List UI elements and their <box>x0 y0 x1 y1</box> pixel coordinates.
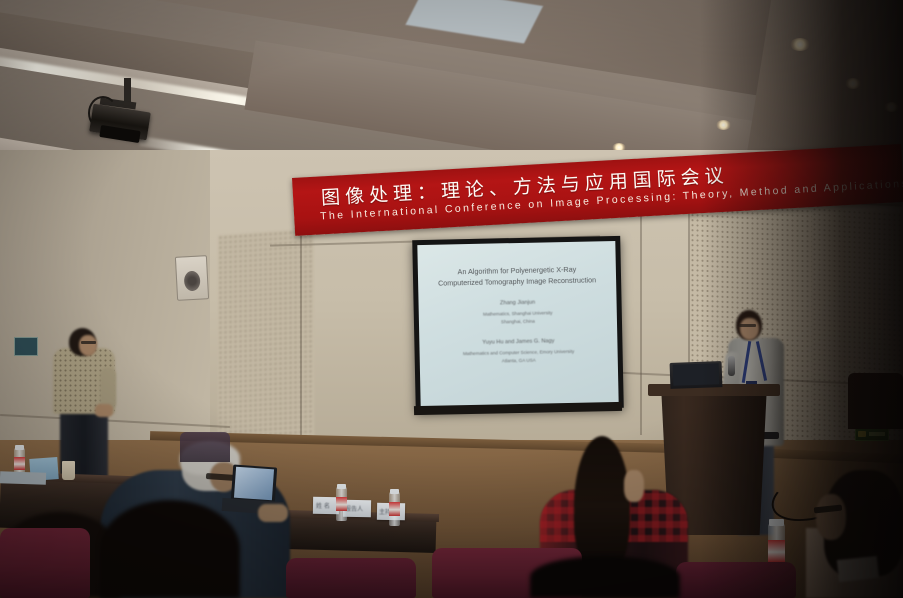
plaid-woman-face <box>624 470 644 502</box>
paper-sheet <box>0 471 46 485</box>
standing-man-hands <box>95 404 113 417</box>
bottle-label <box>336 497 347 511</box>
slide-author-2: Yuyu Hu and James G. Nagy <box>419 337 617 347</box>
laptop-man-hand <box>258 504 288 522</box>
name-card-text: 姓 名 <box>316 501 330 510</box>
chair <box>180 432 230 462</box>
standing-man-face <box>79 335 97 356</box>
standing-man-glasses-icon <box>81 341 96 344</box>
chair <box>286 558 416 598</box>
audience-laptop-screen <box>234 467 274 501</box>
paper-cup <box>62 461 75 480</box>
name-card-text: 报告人 <box>345 504 363 513</box>
chair <box>0 528 90 598</box>
projection-screen: An Algorithm for Polyenergetic X-Ray Com… <box>417 241 618 407</box>
bottle-label <box>14 457 25 470</box>
right-shadow-overlay <box>700 0 903 598</box>
bottle-cap <box>15 445 24 450</box>
speaker-cone-icon <box>184 271 201 292</box>
conference-room-photo: 图像处理：理论、方法与应用国际会议 The International Conf… <box>0 0 903 598</box>
name-card: 报告人 <box>343 500 371 517</box>
wall-plaque <box>14 337 38 356</box>
ceiling-skylight-panel <box>405 0 543 44</box>
bottle-label <box>389 502 400 516</box>
slide-author-1: Zhang Jianjun <box>419 298 617 308</box>
bottle-cap <box>390 489 399 494</box>
audience-head-foreground-center <box>530 556 680 598</box>
audience-head-foreground <box>100 500 240 598</box>
bottle-cap <box>337 484 346 489</box>
wall-speaker <box>175 255 209 301</box>
plaid-woman-hair <box>574 436 630 576</box>
